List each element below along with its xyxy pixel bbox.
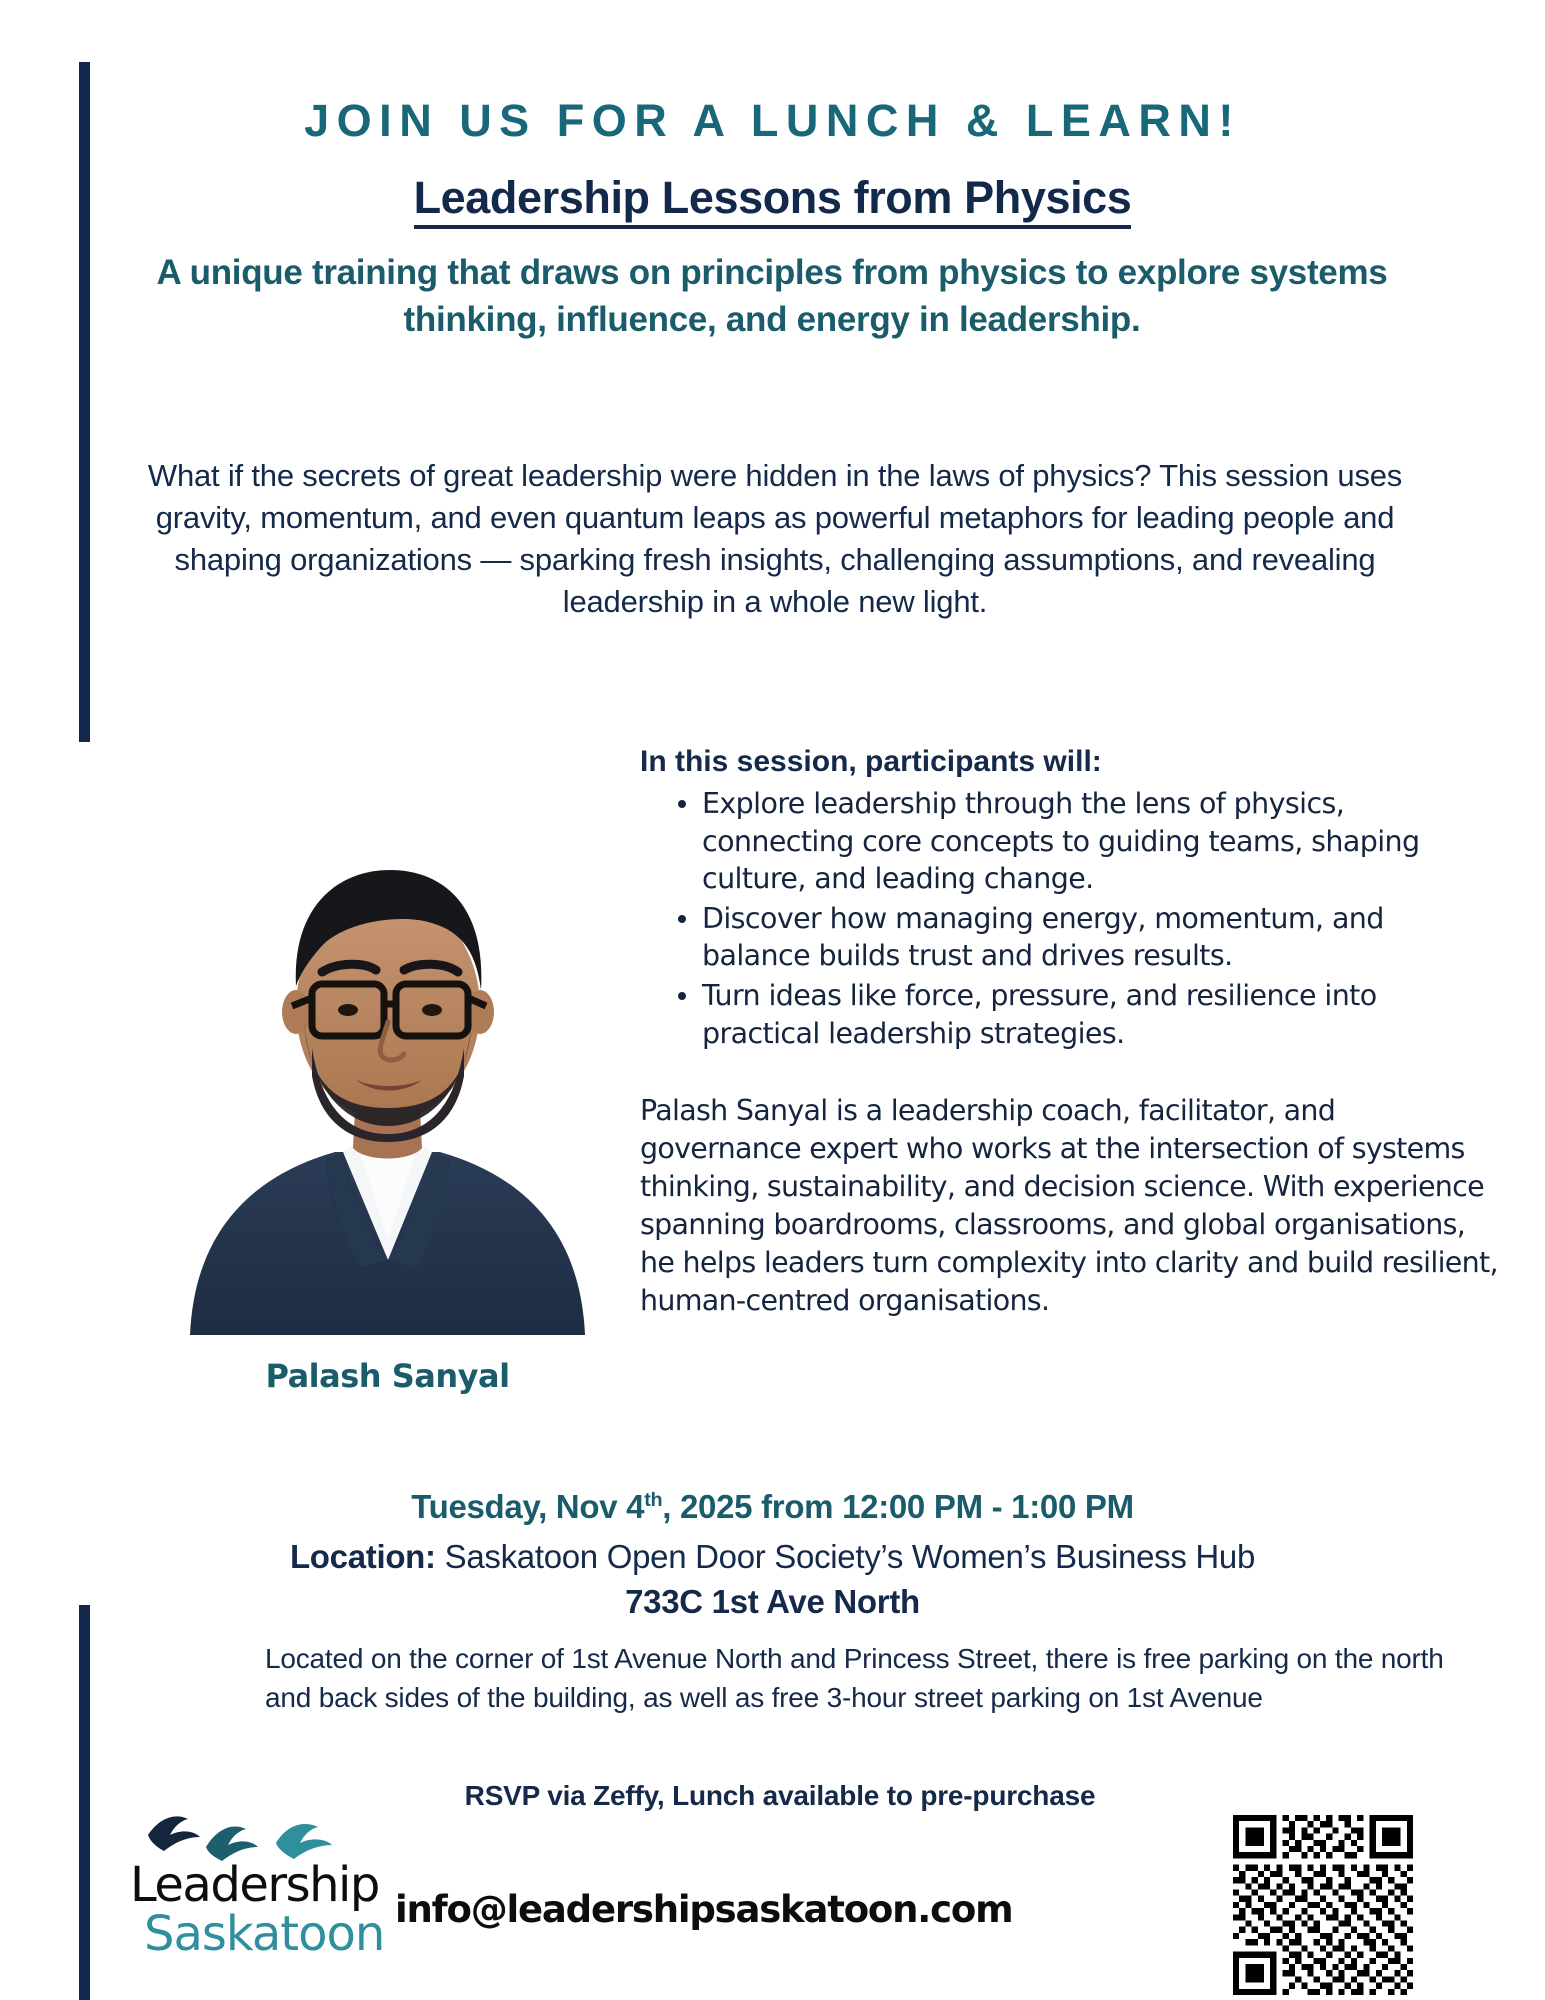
rsvp-note: RSVP via Zeffy, Lunch available to pre-p…	[330, 1780, 1230, 1812]
event-date-suffix: , 2025 from 12:00 PM - 1:00 PM	[662, 1488, 1134, 1525]
session-bullet-list: Explore leadership through the lens of p…	[652, 785, 1500, 1052]
list-item: Explore leadership through the lens of p…	[652, 785, 1500, 898]
speaker-bio: Palash Sanyal is a leadership coach, fac…	[630, 1092, 1500, 1319]
qr-code[interactable]	[1233, 1815, 1413, 1995]
session-heading: In this session, participants will:	[630, 745, 1500, 779]
geese-icon	[130, 1805, 400, 1865]
leadership-saskatoon-logo: Leadership Saskatoon	[130, 1805, 400, 1990]
session-details-column: In this session, participants will: Expl…	[630, 745, 1500, 1320]
left-accent-bar-top	[79, 62, 90, 742]
speaker-portrait	[160, 790, 615, 1335]
page-title: Leadership Lessons from Physics	[0, 172, 1545, 224]
event-location-label: Location:	[290, 1538, 436, 1575]
speaker-name-caption: Palash Sanyal	[160, 1357, 615, 1395]
list-item: Turn ideas like force, pressure, and res…	[652, 977, 1500, 1052]
logo-wordmark: Leadership Saskatoon	[130, 1861, 400, 1959]
poster-lede: What if the secrets of great leadership …	[140, 455, 1410, 622]
parking-info: Located on the corner of 1st Avenue Nort…	[265, 1640, 1475, 1717]
list-item: Discover how managing energy, momentum, …	[652, 900, 1500, 975]
logo-line-leadership: Leadership	[130, 1861, 400, 1909]
event-address: 733C 1st Ave North	[0, 1583, 1545, 1621]
speaker-photo-block: Palash Sanyal	[160, 790, 615, 1395]
logo-line-saskatoon: Saskatoon	[144, 1909, 400, 1959]
event-date: Tuesday, Nov 4th, 2025 from 12:00 PM - 1…	[0, 1488, 1545, 1526]
page-title-text: Leadership Lessons from Physics	[414, 172, 1132, 229]
left-accent-bar-bottom	[79, 1605, 90, 2000]
event-location: Location: Saskatoon Open Door Society’s …	[0, 1538, 1545, 1576]
poster-kicker: JOIN US FOR A LUNCH & LEARN!	[0, 95, 1545, 147]
contact-email[interactable]: info@leadershipsaskatoon.com	[395, 1888, 1012, 1931]
poster-page: JOIN US FOR A LUNCH & LEARN! Leadership …	[0, 0, 1545, 2000]
event-date-ordinal: th	[644, 1489, 662, 1511]
event-location-value: Saskatoon Open Door Society’s Women’s Bu…	[436, 1538, 1255, 1575]
event-date-prefix: Tuesday, Nov 4	[411, 1488, 644, 1525]
poster-subtitle: A unique training that draws on principl…	[122, 250, 1422, 343]
